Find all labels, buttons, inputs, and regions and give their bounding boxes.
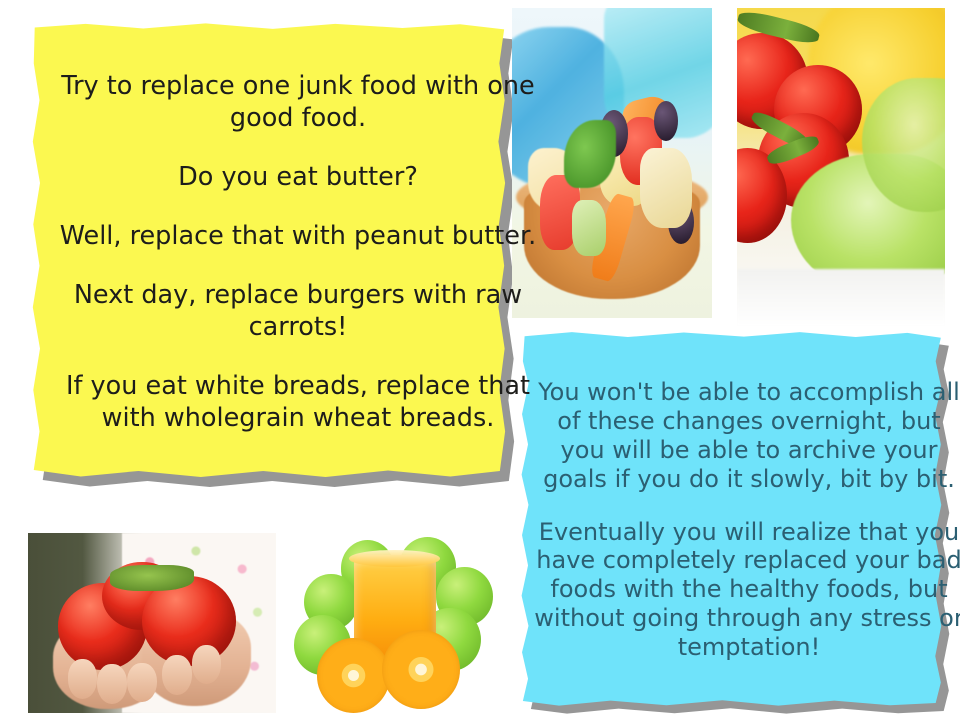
yellow-paragraph-3: Well, replace that with peanut butter. [58,220,538,252]
yellow-note-panel: Try to replace one junk food with one go… [28,22,508,482]
finger-4 [162,655,192,695]
yellow-paragraph-2: Do you eat butter? [58,161,538,193]
slide-canvas: Try to replace one junk food with one go… [0,0,960,720]
hands-scene [28,533,276,713]
finger-1 [68,659,98,699]
salad-olive-2 [654,101,678,141]
yellow-paragraph-1: Try to replace one junk food with one go… [58,70,538,134]
orange-half-left [317,638,391,713]
yellow-note-content: Try to replace one junk food with one go… [28,44,564,460]
salad-piece-pineapple-2 [640,148,692,229]
tomato-scene [737,8,945,326]
tomato-stem-cluster [110,565,194,590]
orange-half-right [382,630,460,709]
blue-paragraph-2: Eventually you will realize that you hav… [534,518,960,662]
photo-orange-juice [292,533,497,720]
juice-glass-rim [349,550,439,567]
orange-scene [292,533,497,720]
plate-surface [737,269,945,326]
yellow-paragraph-5: If you eat white breads, replace that wi… [58,370,538,434]
yellow-paragraph-4: Next day, replace burgers with raw carro… [58,279,538,343]
finger-2 [97,664,127,704]
salad-piece-cucumber [572,200,606,256]
blue-paragraph-1: You won't be able to accomplish all of t… [534,378,960,493]
blue-note-panel: You won't be able to accomplish all of t… [516,331,946,709]
blue-note-content: You won't be able to accomplish all of t… [516,364,960,675]
photo-cherry-tomatoes [737,8,945,326]
finger-3 [127,663,157,703]
photo-hands-with-tomatoes [28,533,276,713]
